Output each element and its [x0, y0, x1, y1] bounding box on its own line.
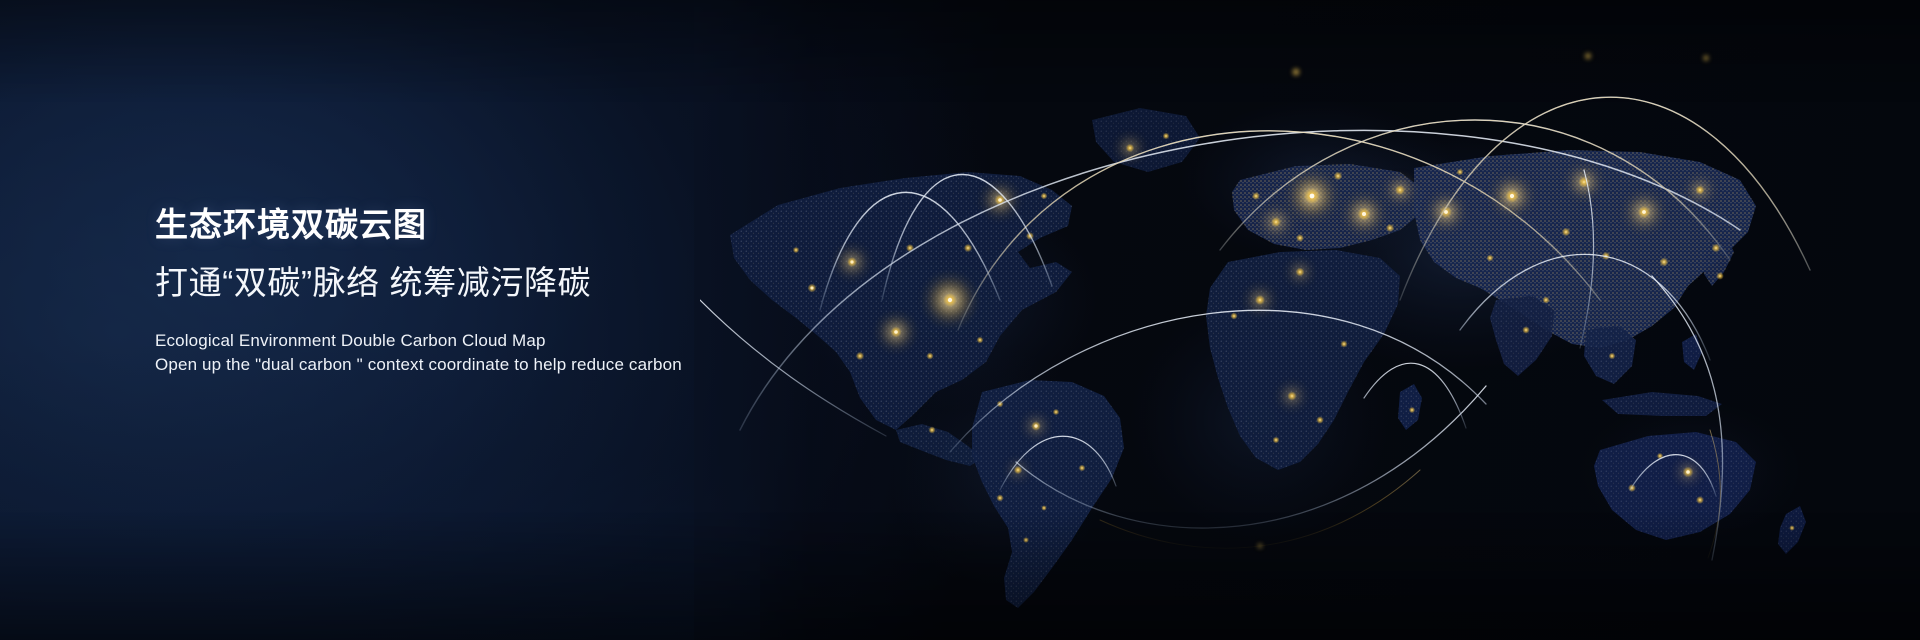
english-subtitle-line-1: Ecological Environment Double Carbon Clo… — [155, 329, 795, 353]
hero-text-block: 生态环境双碳云图 打通“双碳”脉络 统筹减污降碳 Ecological Envi… — [155, 206, 795, 377]
english-subtitle-group: Ecological Environment Double Carbon Clo… — [155, 329, 795, 377]
hero-banner: 生态环境双碳云图 打通“双碳”脉络 统筹减污降碳 Ecological Envi… — [0, 0, 1920, 640]
page-subtitle: 打通“双碳”脉络 统筹减污降碳 — [155, 263, 795, 303]
page-title: 生态环境双碳云图 — [155, 206, 795, 245]
english-subtitle-line-2: Open up the "dual carbon " context coord… — [155, 353, 795, 377]
